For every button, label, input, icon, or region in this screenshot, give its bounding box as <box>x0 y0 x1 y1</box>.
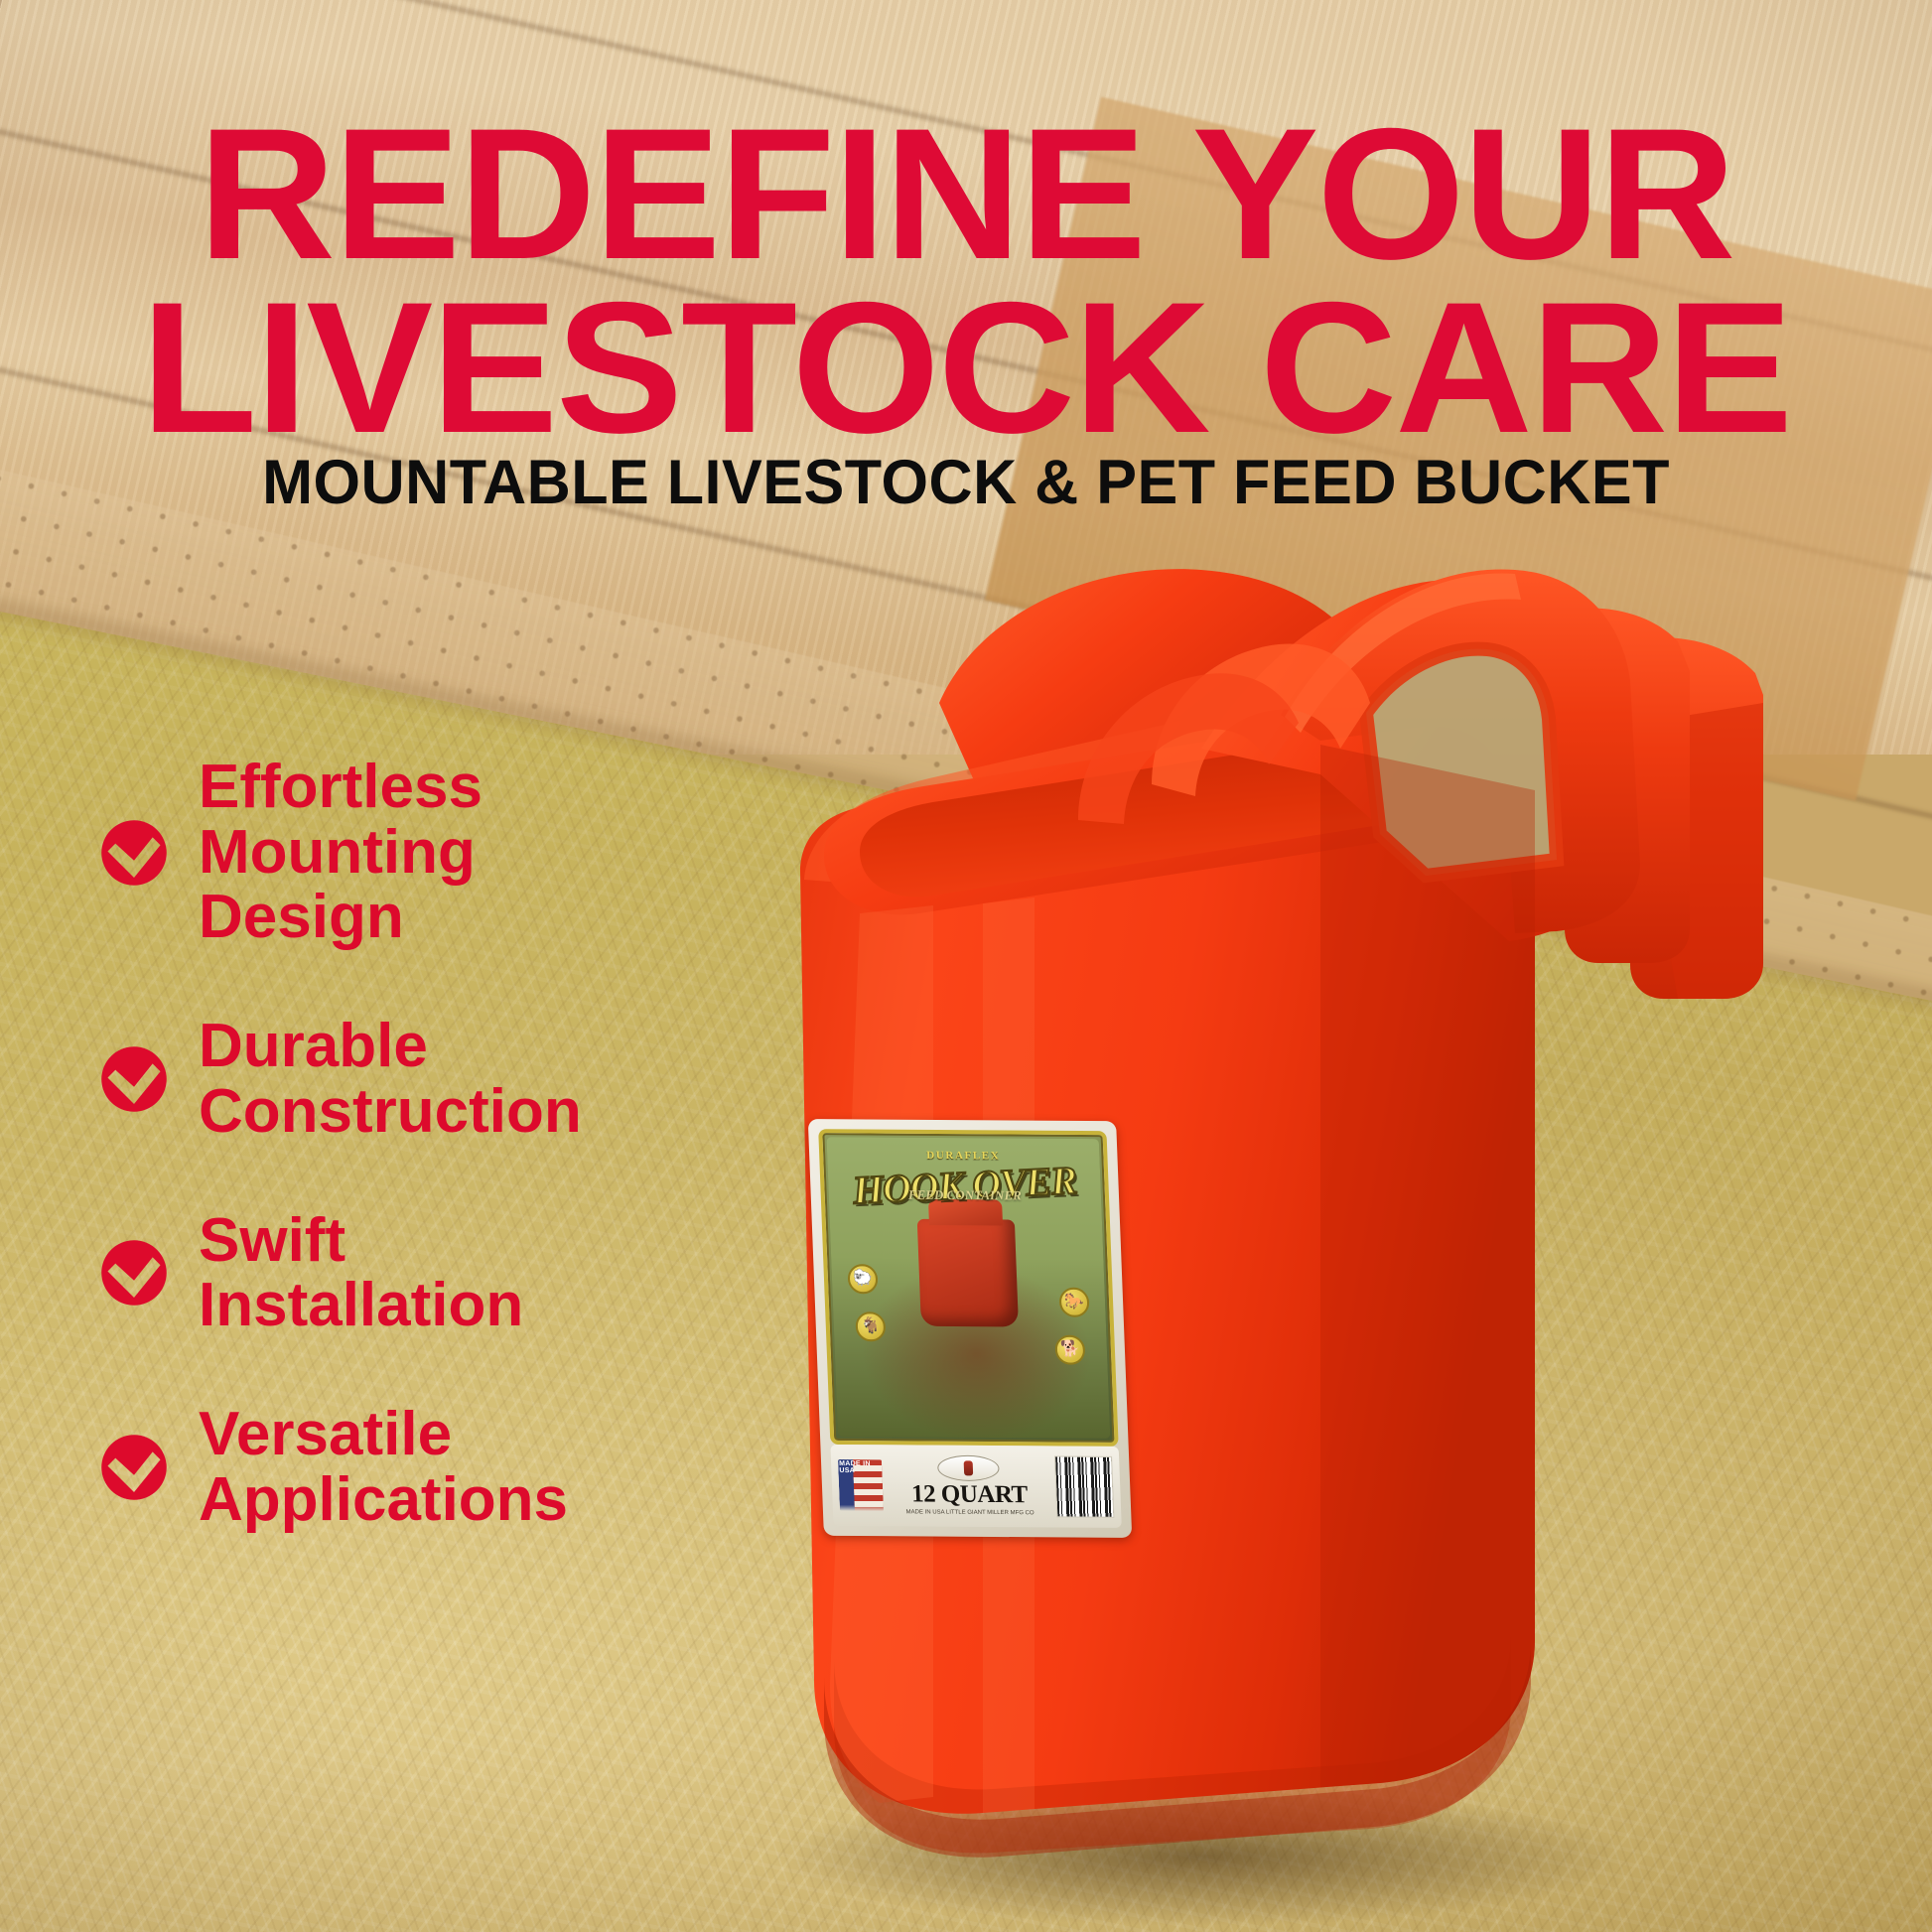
check-circle-icon <box>95 1040 173 1118</box>
feature-label: Swift Installation <box>199 1208 523 1338</box>
check-circle-icon <box>95 1234 173 1311</box>
feature-label: Versatile Applications <box>199 1402 568 1532</box>
feature-item: Swift Installation <box>95 1208 731 1338</box>
subheadline: MOUNTABLE LIVESTOCK & PET FEED BUCKET <box>29 447 1903 518</box>
promo-image: REDEFINE YOUR LIVESTOCK CARE MOUNTABLE L… <box>0 0 1932 1932</box>
feature-item: Versatile Applications <box>95 1402 731 1532</box>
barcode-icon <box>1054 1455 1114 1517</box>
label-capacity-sub: MADE IN USA LITTLE GIANT MILLER MFG CO <box>890 1508 1051 1518</box>
animal-icon-sheep: 🐑 <box>847 1264 878 1294</box>
label-tagline: FEED CONTAINER <box>828 1186 1101 1204</box>
label-product-photo <box>917 1219 1019 1327</box>
feature-item: Effortless Mounting Design <box>95 755 731 950</box>
label-title: HOOK OVER <box>827 1156 1103 1214</box>
feature-item: Durable Construction <box>95 1014 731 1144</box>
animal-icon-dog: 🐕 <box>1054 1335 1085 1365</box>
animal-icon-horse: 🐎 <box>1058 1288 1089 1317</box>
product-label: DURAFLEX HOOK OVER 🐑 🐐 🐎 🐕 FEED CONTAINE… <box>808 1114 1132 1543</box>
made-in-usa-text: MADE IN USA <box>839 1460 883 1474</box>
check-circle-icon <box>95 1429 173 1506</box>
feature-list: Effortless Mounting Design Durable Const… <box>95 755 731 1532</box>
feature-label: Effortless Mounting Design <box>199 755 483 950</box>
headline: REDEFINE YOUR LIVESTOCK CARE <box>0 107 1932 455</box>
animal-icon-goat: 🐐 <box>855 1311 886 1341</box>
check-circle-icon <box>95 814 173 892</box>
made-in-usa-flag-icon: MADE IN USA <box>838 1459 884 1511</box>
bucket-silhouette-icon <box>937 1454 1000 1480</box>
label-capacity: 12 QUART <box>889 1481 1050 1507</box>
headline-line-2: LIVESTOCK CARE <box>0 281 1932 455</box>
feature-label: Durable Construction <box>199 1014 582 1144</box>
